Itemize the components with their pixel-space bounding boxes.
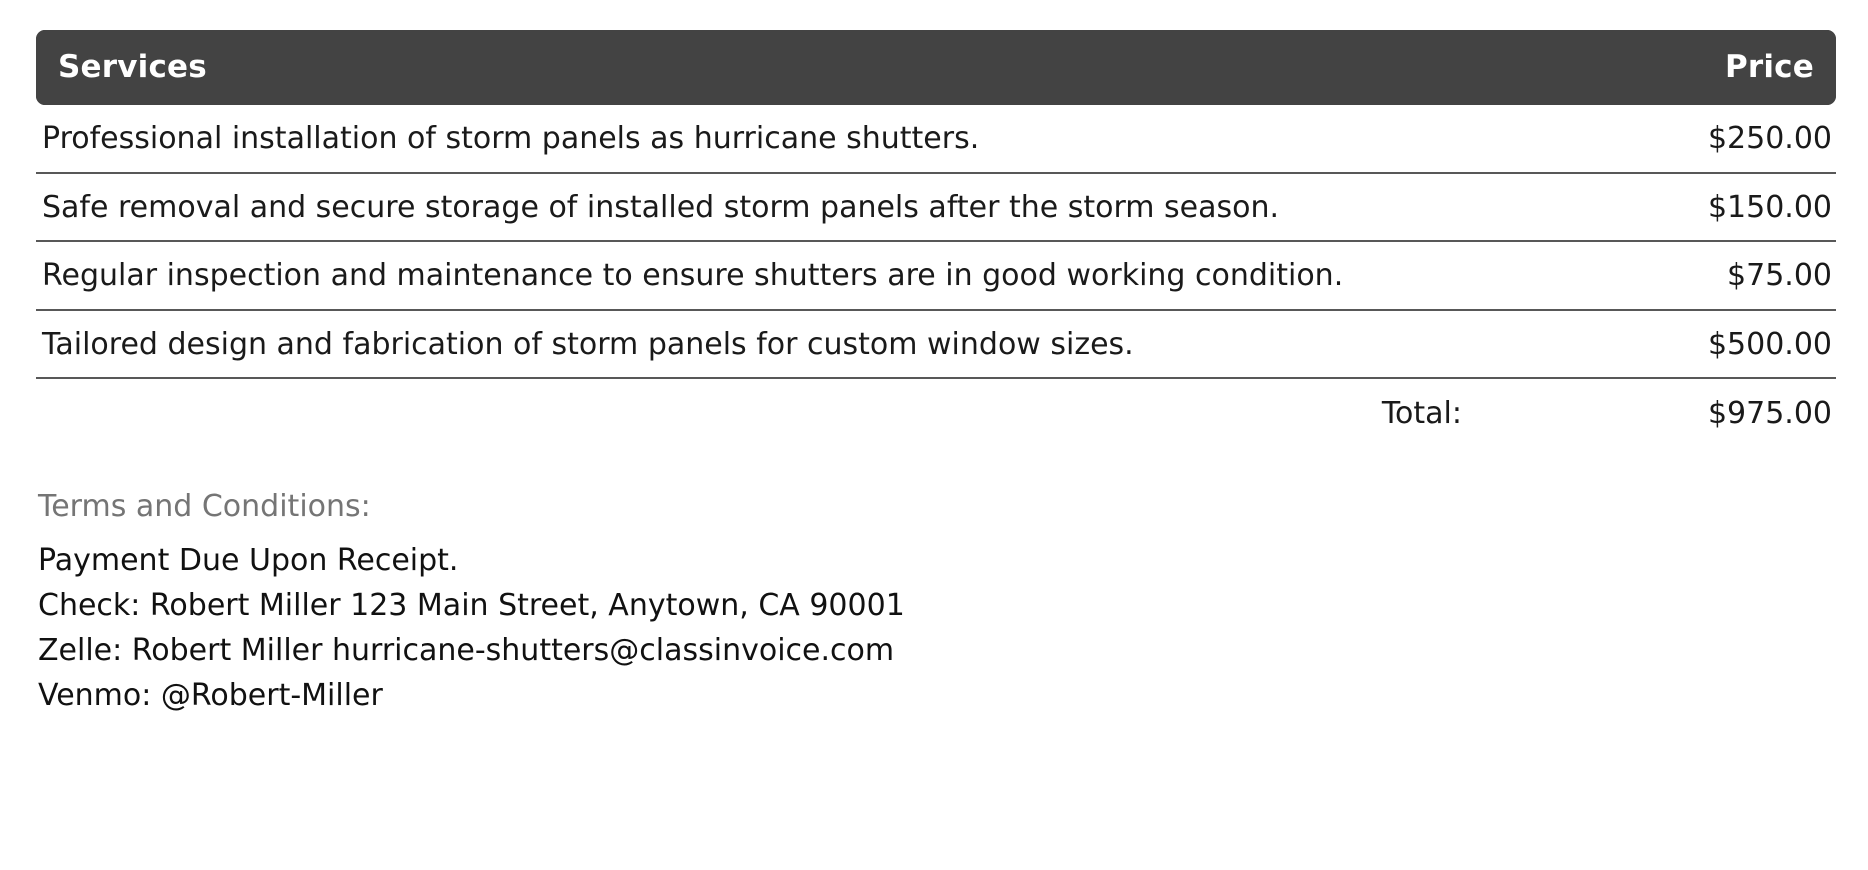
service-price: $250.00 (1514, 105, 1836, 173)
service-price: $150.00 (1514, 173, 1836, 242)
service-price: $500.00 (1514, 310, 1836, 379)
services-price-table: Services Price Professional installation… (36, 30, 1836, 447)
invoice-services-section: Services Price Professional installation… (0, 0, 1868, 870)
terms-line-venmo: Venmo: @Robert-Miller (38, 673, 1836, 718)
table-total-row: Total: $975.00 (36, 378, 1836, 447)
table-row: Professional installation of storm panel… (36, 105, 1836, 173)
table-row: Safe removal and secure storage of insta… (36, 173, 1836, 242)
total-value: $975.00 (1514, 378, 1836, 447)
terms-line-zelle: Zelle: Robert Miller hurricane-shutters@… (38, 628, 1836, 673)
column-header-price: Price (1514, 30, 1836, 105)
service-description: Professional installation of storm panel… (36, 105, 1514, 173)
terms-and-conditions: Terms and Conditions: Payment Due Upon R… (36, 489, 1836, 718)
table-body: Professional installation of storm panel… (36, 105, 1836, 447)
table-header-row: Services Price (36, 30, 1836, 105)
service-description: Tailored design and fabrication of storm… (36, 310, 1514, 379)
table-header: Services Price (36, 30, 1836, 105)
service-price: $75.00 (1514, 241, 1836, 310)
terms-line-check: Check: Robert Miller 123 Main Street, An… (38, 583, 1836, 628)
total-label: Total: (36, 378, 1514, 447)
table-row: Regular inspection and maintenance to en… (36, 241, 1836, 310)
column-header-services: Services (36, 30, 1514, 105)
terms-heading: Terms and Conditions: (38, 489, 1836, 524)
terms-line-payment-due: Payment Due Upon Receipt. (38, 538, 1836, 583)
service-description: Safe removal and secure storage of insta… (36, 173, 1514, 242)
table-row: Tailored design and fabrication of storm… (36, 310, 1836, 379)
service-description: Regular inspection and maintenance to en… (36, 241, 1514, 310)
